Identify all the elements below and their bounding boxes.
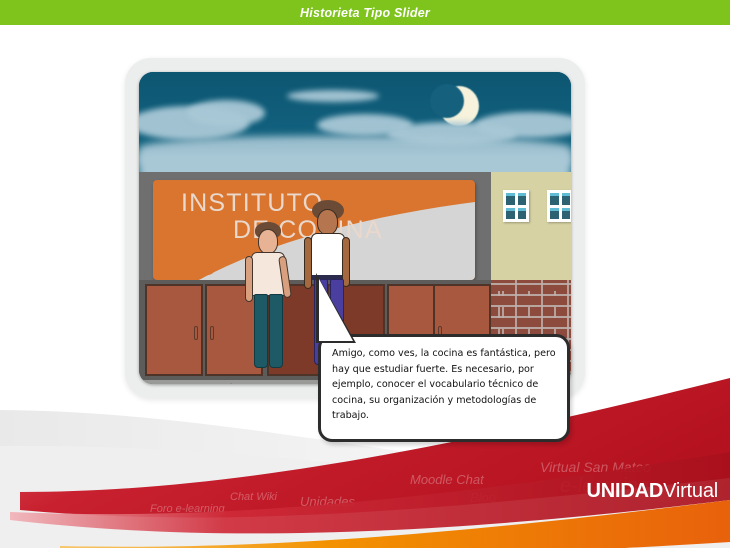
- sign-dot: [199, 258, 216, 275]
- cloud: [187, 100, 265, 126]
- slide-root: Historieta Tipo Slider: [0, 0, 730, 548]
- unidad-virtual-wordmark: UNIDAD Virtual: [586, 480, 718, 503]
- leg: [269, 294, 283, 368]
- arm: [245, 256, 253, 302]
- svg-text:Moodle Chat: Moodle Chat: [410, 472, 485, 487]
- speech-bubble-tail: [319, 279, 353, 341]
- speech-bubble: Amigo, como ves, la cocina es fantástica…: [318, 334, 570, 442]
- virtual-light-text: Virtual: [663, 480, 718, 503]
- arm: [304, 237, 312, 289]
- moon-icon: [439, 86, 479, 126]
- torso: [311, 233, 345, 277]
- speech-bubble-text: Amigo, como ves, la cocina es fantástica…: [321, 337, 567, 424]
- leg: [254, 294, 268, 368]
- building-beige: [489, 172, 571, 280]
- unidad-bold-text: UNIDAD: [586, 480, 663, 503]
- header-bar: Historieta Tipo Slider: [0, 0, 730, 25]
- page-title: Historieta Tipo Slider: [300, 6, 430, 20]
- sign-dot: [181, 266, 192, 277]
- cloud: [287, 90, 379, 102]
- head: [317, 209, 338, 235]
- head: [258, 229, 278, 254]
- character-left: [243, 222, 299, 370]
- window: [547, 190, 571, 222]
- window: [503, 190, 529, 222]
- svg-text:Chat Wiki: Chat Wiki: [230, 491, 278, 503]
